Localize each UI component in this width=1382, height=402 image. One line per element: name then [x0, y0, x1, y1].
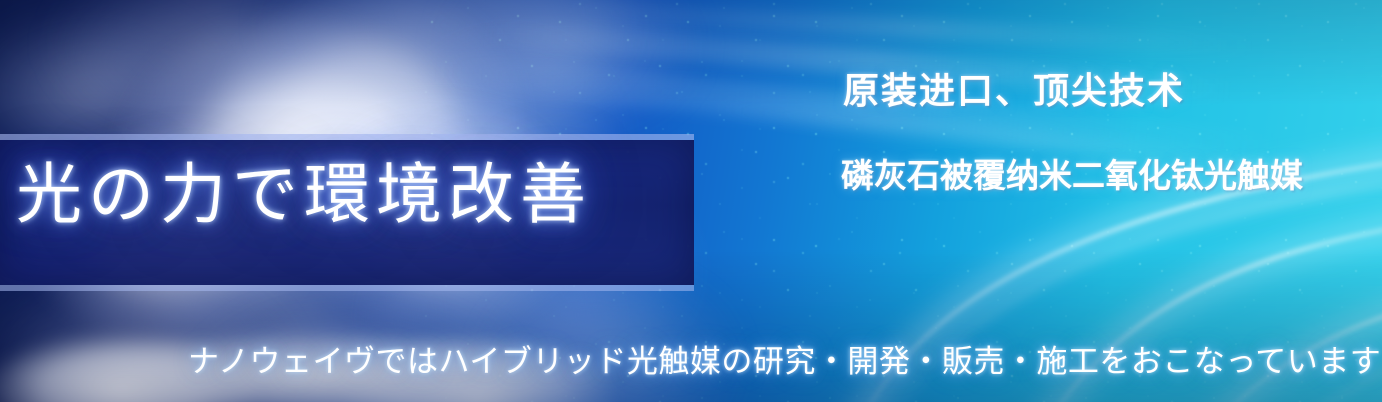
headline-japanese: 光の力で環境改善 — [16, 162, 676, 228]
tagline-japanese: ナノウェイヴではハイブリッド光触媒の研究・開発・販売・施工をおこなっています — [188, 347, 1381, 378]
subhead-chinese-line2: 磷灰石被覆纳米二氧化钛光触媒 — [841, 159, 1303, 192]
subhead-chinese-line1: 原装进口、顶尖技术 — [843, 74, 1185, 110]
hero-banner: 光の力で環境改善 原装进口、顶尖技术 磷灰石被覆纳米二氧化钛光触媒 ナノウェイヴ… — [0, 0, 1382, 402]
